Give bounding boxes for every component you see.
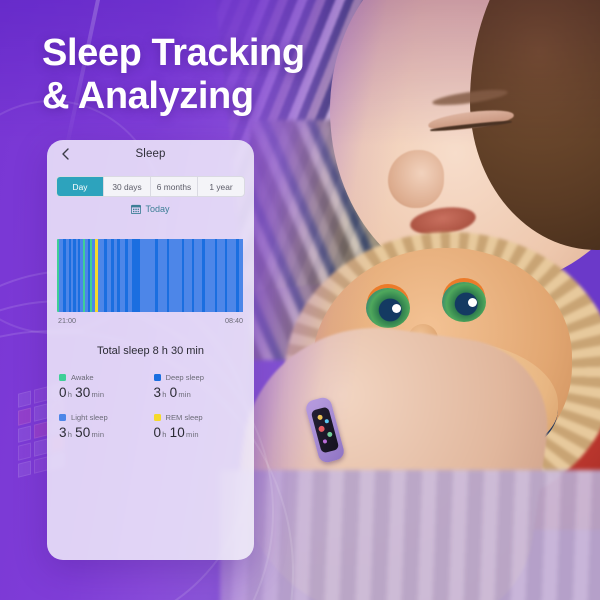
legend-item-rem-sleep: REM sleep 0h10min [154, 413, 243, 440]
awake-swatch-icon [59, 374, 66, 381]
legend-item-light-sleep: Light sleep 3h50min [59, 413, 148, 440]
promo-banner: Sleep Tracking & Analyzing Sleep Day 30 … [0, 0, 600, 600]
tab-1-year[interactable]: 1 year [198, 177, 244, 196]
range-tabs[interactable]: Day 30 days 6 months 1 year [56, 176, 245, 197]
app-title: Sleep [47, 140, 254, 160]
awake-hours: 0 [59, 385, 67, 400]
chart-start-time: 21:00 [58, 316, 76, 325]
hypnogram-segment-light [158, 239, 167, 312]
tab-day[interactable]: Day [57, 177, 104, 196]
sleep-app-card: Sleep Day 30 days 6 months 1 year [47, 140, 254, 560]
chart-axis: 21:00 08:40 [57, 316, 244, 325]
rem-minutes-unit: min [186, 430, 199, 439]
light-minutes-unit: min [92, 430, 105, 439]
page-title: Sleep Tracking & Analyzing [42, 32, 442, 118]
light-hours-unit: h [68, 430, 72, 439]
hypnogram-segment-deep [132, 239, 140, 312]
legend-label: Deep sleep [166, 373, 204, 382]
legend-item-deep-sleep: Deep sleep 3h0min [154, 373, 243, 400]
legend-value: 0h10min [154, 425, 243, 440]
awake-minutes-unit: min [92, 390, 105, 399]
legend-value: 3h0min [154, 385, 243, 400]
hypnogram-segment-light [184, 239, 191, 312]
hypnogram-segment-light [194, 239, 202, 312]
tab-30-days[interactable]: 30 days [104, 177, 151, 196]
deep-hours-unit: h [162, 390, 166, 399]
awake-hours-unit: h [68, 390, 72, 399]
hypnogram-segment-light [169, 239, 181, 312]
deep-minutes-unit: min [178, 390, 191, 399]
chart-end-time: 08:40 [225, 316, 243, 325]
rem-hours-unit: h [162, 430, 166, 439]
legend-label: REM sleep [166, 413, 203, 422]
awake-minutes: 30 [75, 385, 90, 400]
deep-minutes: 0 [170, 385, 178, 400]
light-minutes: 50 [75, 425, 90, 440]
sleep-stage-legend: Awake 0h30min Deep sleep 3h0min Ligh [59, 373, 242, 440]
hypnogram-segment-light [205, 239, 215, 312]
rem-hours: 0 [154, 425, 162, 440]
deep-hours: 3 [154, 385, 162, 400]
hypnogram-segment-light [217, 239, 224, 312]
rem-minutes: 10 [170, 425, 185, 440]
legend-label: Light sleep [71, 413, 108, 422]
hypnogram-segment-light [227, 239, 236, 312]
total-sleep-label: Total sleep 8 h 30 min [47, 345, 254, 357]
tab-6-months[interactable]: 6 months [151, 177, 198, 196]
date-selector[interactable]: Today [47, 204, 254, 214]
deep-sleep-swatch-icon [154, 374, 161, 381]
date-selector-label: Today [145, 204, 169, 214]
app-header: Sleep [47, 140, 254, 170]
legend-label: Awake [71, 373, 94, 382]
hypnogram-bars[interactable] [57, 239, 244, 312]
calendar-icon [131, 204, 141, 214]
legend-value: 0h30min [59, 385, 148, 400]
rem-sleep-swatch-icon [154, 414, 161, 421]
hypnogram-segment-light [140, 239, 155, 312]
legend-value: 3h50min [59, 425, 148, 440]
light-sleep-swatch-icon [59, 414, 66, 421]
light-hours: 3 [59, 425, 67, 440]
sleep-chart[interactable]: 21:00 08:40 [57, 239, 244, 325]
hypnogram-segment-light [239, 239, 244, 312]
legend-item-awake: Awake 0h30min [59, 373, 148, 400]
chevron-left-icon[interactable] [59, 147, 73, 161]
